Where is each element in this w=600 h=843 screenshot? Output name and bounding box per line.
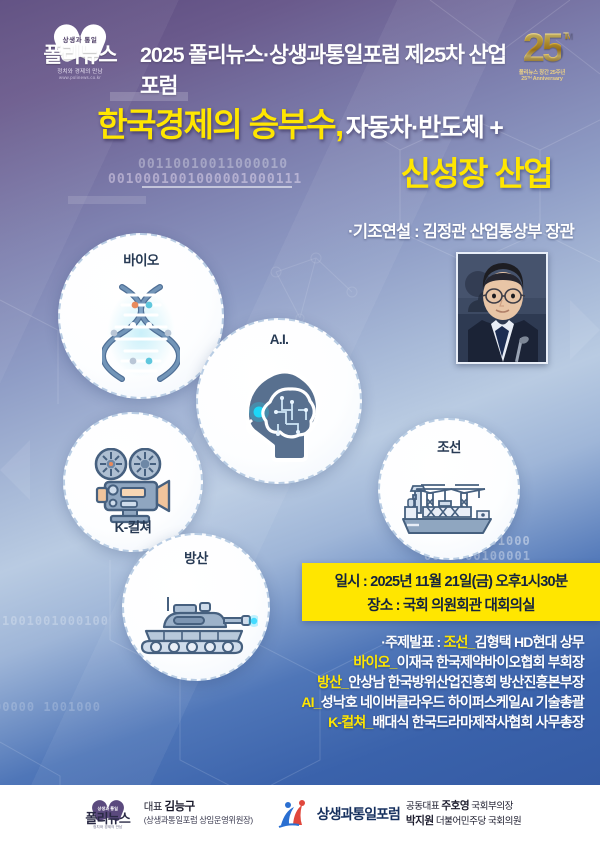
- footer-forum-name: 상생과통일포럼: [317, 804, 400, 824]
- footer-polinews-logo: 상생과 통일 폴리뉴스 정치와 경제의 만남: [79, 798, 137, 830]
- poster-footer: 상생과 통일 폴리뉴스 정치와 경제의 만남 대표 김능구 (상생과통일포럼 상…: [0, 785, 600, 843]
- footer-forum-line1: 공동대표 주호영 국회부의장: [406, 799, 521, 814]
- presenter-row: K-컬쳐_배대식 한국드라마제작사협회 사무총장: [64, 712, 584, 732]
- bubble-label-bio: 바이오: [123, 249, 158, 269]
- presenter-text: 이재국 한국제약바이오협회 부회장: [397, 654, 584, 670]
- forum-people-icon: [277, 799, 311, 829]
- presenter-text: 안상남 한국방위산업진흥회 방산진흥본부장: [348, 674, 584, 690]
- header-title: 2025 폴리뉴스·상생과통일포럼 제25차 산업포럼: [140, 38, 520, 100]
- title-line-2: 신성장 산업: [0, 147, 600, 195]
- footer-corep-name: 주호영: [441, 800, 469, 812]
- footer-forum-block: 상생과통일포럼 공동대표 주호영 국회부의장 박지원 더불어민주당 국회의원: [277, 799, 522, 829]
- polinews-logo: 상생과 통일 폴리뉴스 정치와 경제의 만남 www.polinews.co.k…: [28, 22, 132, 80]
- main-title-block: 한국경제의 승부수,자동차·반도체 + 신성장 산업: [0, 108, 600, 195]
- logo-tagline: 상생과 통일: [63, 34, 98, 44]
- footer-corep2-role: 더불어민주당 국회의원: [434, 816, 522, 827]
- bubble-label-defense: 방산: [184, 547, 208, 567]
- keynote-speaker-role: 산업통상부 장관: [466, 223, 574, 241]
- anniversary-emblem: 25TM 폴리뉴스 창간 25주년 25ᵀᴴ Anniversary: [500, 18, 584, 94]
- poster-header: 상생과 통일 폴리뉴스 정치와 경제의 만남 www.polinews.co.k…: [0, 0, 600, 100]
- speaker-portrait-icon: [458, 254, 546, 362]
- anniversary-english: 25ᵀᴴ Anniversary: [521, 76, 563, 82]
- binary-decor-e: 1001001000100: [2, 614, 109, 628]
- title-line-1: 한국경제의 승부수,자동차·반도체 +: [0, 108, 600, 141]
- bar-decor-left: [68, 196, 146, 204]
- footer-corep2-name: 박지원: [406, 815, 434, 827]
- bubble-kculture[interactable]: K-컬쳐: [63, 412, 203, 552]
- presenter-row: ·주제발표 : 조선_김형택 HD현대 상무: [64, 632, 584, 652]
- presenter-row: AI_성낙호 네이버클라우드 하이퍼스케일AI 기술총괄: [64, 692, 584, 712]
- footer-polinews-texts: 대표 김능구 (상생과통일포럼 상임운영위원장): [144, 801, 253, 827]
- presenter-tag: K-컬쳐_: [328, 714, 372, 730]
- event-poster: 00110010011000010 0010001001000001000111…: [0, 0, 600, 843]
- logo-sub: 정치와 경제의 만남: [57, 67, 103, 75]
- bubble-ai[interactable]: A.I.: [196, 318, 362, 484]
- keynote-prefix: ·기조연설 :: [348, 223, 422, 241]
- logo-name: 폴리뉴스: [43, 45, 116, 66]
- presenter-row: 방산_안상남 한국방위산업진흥회 방산진흥본부장: [64, 672, 584, 692]
- presenter-text: 배대식 한국드라마제작사협회 사무총장: [372, 714, 584, 730]
- footer-logo-name: 폴리뉴스: [85, 812, 130, 825]
- ai-head-brain-icon: [198, 347, 360, 482]
- footer-rep-label: 대표: [144, 801, 165, 813]
- footer-rep-name: 김능구: [165, 801, 195, 813]
- title-highlight: 한국경제의 승부수,: [97, 106, 342, 143]
- footer-polinews-line1: 대표 김능구: [144, 801, 253, 814]
- footer-corep-label: 공동대표: [406, 801, 441, 812]
- presenter-text: 성낙호 네이버클라우드 하이퍼스케일AI 기술총괄: [321, 694, 584, 710]
- footer-forum-texts: 공동대표 주호영 국회부의장 박지원 더불어민주당 국회의원: [406, 799, 521, 829]
- footer-polinews-line2: (상생과통일포럼 상임운영위원장): [144, 814, 253, 827]
- bubble-shipbuilding[interactable]: 조선: [378, 418, 520, 560]
- shipyard-crane-icon: [380, 456, 518, 558]
- footer-polinews-block: 상생과 통일 폴리뉴스 정치와 경제의 만남 대표 김능구 (상생과통일포럼 상…: [79, 798, 253, 830]
- keynote-line: ·기조연설 : 김정관 산업통상부 장관: [348, 218, 574, 242]
- presenter-tag: 바이오_: [353, 654, 396, 670]
- presenters-heading: ·주제발표 :: [381, 634, 443, 650]
- keynote-speaker-photo: [456, 252, 548, 364]
- footer-logo-sub: 정치와 경제의 만남: [93, 825, 122, 830]
- presenter-tag: AI_: [301, 694, 320, 710]
- title-subtext: 자동차·반도체 +: [346, 114, 503, 142]
- bubble-label-ai: A.I.: [270, 332, 289, 347]
- keynote-speaker-name: 김정관: [423, 223, 466, 241]
- bubble-label-kculture: K-컬쳐: [115, 516, 152, 536]
- presenter-tag: 조선_: [443, 634, 474, 650]
- presenter-text: 김형택 HD현대 상무: [475, 634, 584, 650]
- presenter-row: 바이오_이재국 한국제약바이오협회 부회장: [64, 652, 584, 672]
- footer-forum-line2: 박지원 더불어민주당 국회의원: [406, 814, 521, 829]
- presenters-list: ·주제발표 : 조선_김형택 HD현대 상무 바이오_이재국 한국제약바이오협회…: [64, 632, 584, 732]
- event-info-box: 일시 : 2025년 11월 21일(금) 오후1시30분 장소 : 국회 의원…: [302, 563, 600, 621]
- anniversary-number: 25TM: [523, 30, 562, 66]
- event-date: 일시 : 2025년 11월 21일(금) 오후1시30분: [335, 570, 568, 591]
- logo-url: www.polinews.co.kr: [59, 75, 101, 80]
- footer-corep-role: 국회부의장: [469, 801, 513, 812]
- bubble-label-shipbuilding: 조선: [437, 436, 461, 456]
- trademark-icon: TM: [563, 32, 570, 40]
- presenter-tag: 방산_: [317, 674, 348, 690]
- event-place: 장소 : 국회 의원회관 대회의실: [367, 594, 534, 615]
